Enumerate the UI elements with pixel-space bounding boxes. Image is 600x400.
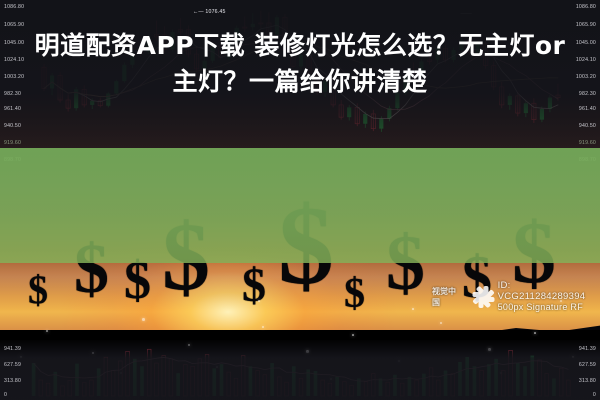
visual-china-logo-text: 视觉中国 [432,286,464,308]
watermark-license: 500px Signature RF [498,302,600,313]
watermark-id: ID: VCG211284289394 [498,280,600,302]
watermark-text-group: ID: VCG211284289394 500px Signature RF [498,280,600,313]
watermark: 视觉中国 ID: VCG211284289394 500px Signature… [432,280,600,313]
title-text-group: 明道配资APP下载 装修灯光怎么选？无主灯or 主灯？一篇给你讲清楚 [0,0,600,115]
screenshot-root: $ $ $ $ $ $ $ $ $ $ [0,0,600,400]
article-title-line-1: 明道配资APP下载 装修灯光怎么选？无主灯or [35,30,566,62]
article-title-line-2: 主灯？一篇给你讲清楚 [172,66,427,98]
title-banner [0,148,600,263]
sunburst-icon [468,284,494,310]
